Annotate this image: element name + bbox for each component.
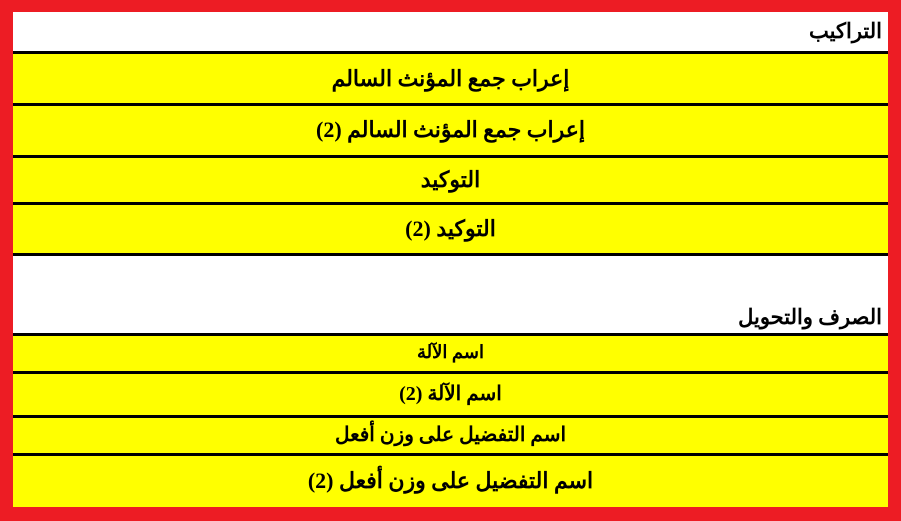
list-item-label: التوكيد (2) [13,217,888,241]
list-item-label: التوكيد [13,168,888,192]
list-item[interactable]: التوكيد (2) [13,205,888,257]
lesson-index-table: التراكيب إعراب جمع المؤنث السالم إعراب ج… [13,12,888,507]
section-heading-label: التراكيب [13,20,888,43]
section-header-sarf-wa-tahweel: الصرف والتحويل [13,256,888,336]
section-heading-label: الصرف والتحويل [13,306,888,333]
list-item[interactable]: اسم التفضيل على وزن أفعل (2) [13,456,888,507]
list-item[interactable]: إعراب جمع المؤنث السالم [13,54,888,106]
list-item[interactable]: اسم الآلة (2) [13,374,888,418]
list-item-label: إعراب جمع المؤنث السالم [13,67,888,91]
list-item-label: اسم التفضيل على وزن أفعل [13,424,888,446]
list-item[interactable]: إعراب جمع المؤنث السالم (2) [13,106,888,158]
list-item[interactable]: اسم التفضيل على وزن أفعل [13,418,888,456]
list-item-label: اسم الآلة [13,343,888,363]
list-item-label: اسم الآلة (2) [13,383,888,405]
list-item-label: إعراب جمع المؤنث السالم (2) [13,118,888,142]
page-frame: التراكيب إعراب جمع المؤنث السالم إعراب ج… [0,0,901,521]
list-item[interactable]: اسم الآلة [13,336,888,374]
list-item[interactable]: التوكيد [13,158,888,205]
section-header-tarakib: التراكيب [13,12,888,54]
list-item-label: اسم التفضيل على وزن أفعل (2) [13,469,888,493]
